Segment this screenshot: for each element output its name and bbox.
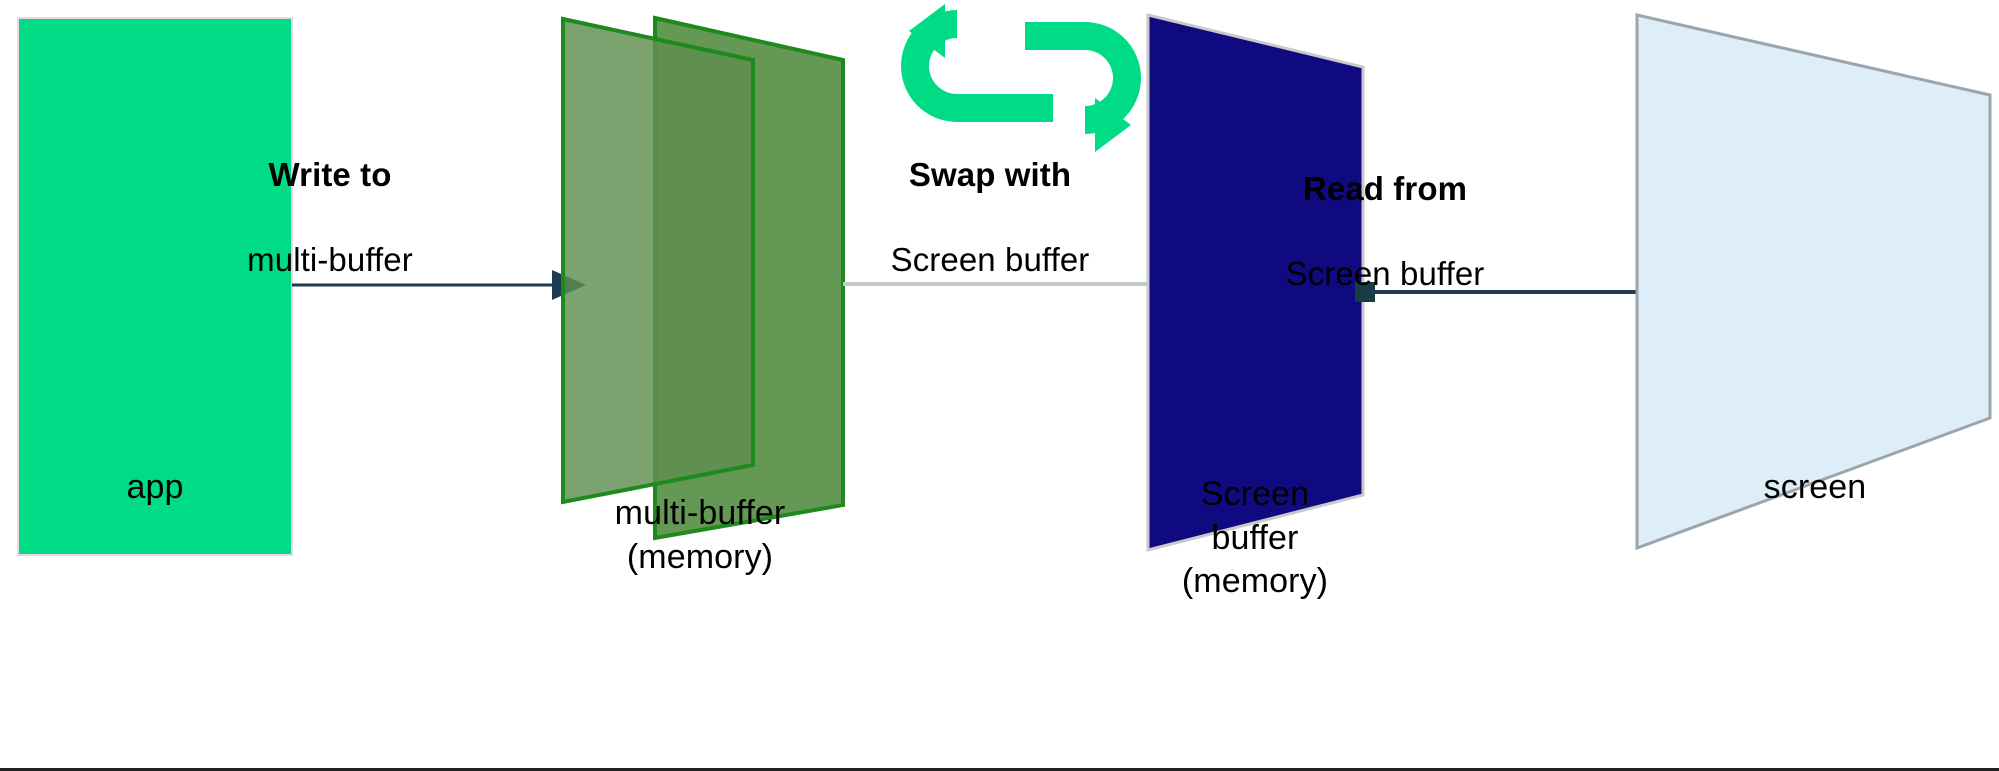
node-label-screen-buffer: Screen buffer (memory) bbox=[1140, 473, 1370, 604]
node-label-screen: screen bbox=[1700, 466, 1930, 510]
edge-label-write: Write to multi-buffer bbox=[175, 112, 485, 323]
edge-label-swap-subtitle: Screen buffer bbox=[835, 239, 1145, 281]
node-label-multi-buffer: multi-buffer (memory) bbox=[555, 492, 845, 579]
edge-label-write-title: Write to bbox=[175, 154, 485, 196]
edge-label-write-subtitle: multi-buffer bbox=[175, 239, 485, 281]
edge-label-read: Read from Screen buffer bbox=[1230, 126, 1540, 337]
edge-label-read-title: Read from bbox=[1230, 168, 1540, 210]
diagram-canvas: Write to multi-buffer Swap with Screen b… bbox=[0, 0, 1999, 771]
node-multi-buffer-front-plane[interactable] bbox=[563, 19, 753, 502]
edge-label-swap: Swap with Screen buffer bbox=[835, 112, 1145, 323]
node-label-app: app bbox=[40, 466, 270, 510]
edge-label-read-subtitle: Screen buffer bbox=[1230, 253, 1540, 295]
edge-label-swap-title: Swap with bbox=[835, 154, 1145, 196]
